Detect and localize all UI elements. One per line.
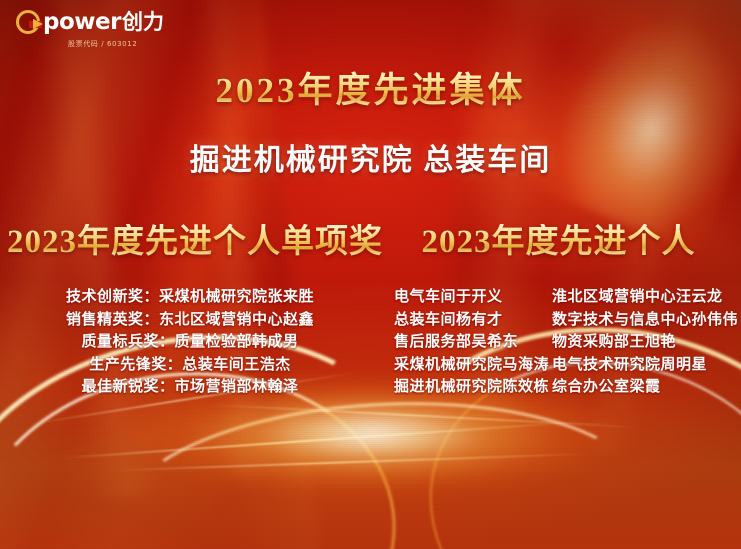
poster-main-title-text: 2023年度先进集体 (215, 71, 525, 110)
list-item: 质量标兵奖：质量检验部韩成男 (81, 331, 298, 354)
section-heading-individual-text: 2023年度先进个人 (422, 224, 696, 260)
award-lists: 技术创新奖：采煤机械研究院张来胜 销售精英奖：东北区域营销中心赵鑫 质量标兵奖：… (0, 286, 741, 399)
list-item: 掘进机械研究院陈效栋 综合办公室梁霞 (394, 376, 727, 399)
c-power-circle-arrow-icon (16, 10, 40, 34)
individual-award-list: 电气车间于开义 淮北区域营销中心汪云龙 总装车间杨有才 数字技术与信息中心孙伟伟… (380, 286, 741, 399)
person-name: 数字技术与信息中心孙伟伟 (552, 309, 727, 332)
company-logo: power 创力 股票代码 / 603012 (16, 10, 164, 49)
poster-subtitle: 掘进机械研究院 总装车间 (0, 135, 741, 179)
person-name: 售后服务部吴希东 (394, 331, 552, 354)
list-item: 电气车间于开义 淮北区域营销中心汪云龙 (394, 286, 727, 309)
person-name: 总装车间杨有才 (394, 309, 552, 332)
section-heading-individual: 2023年度先进个人 (390, 214, 741, 262)
logo-wordmark-cn: 创力 (122, 12, 164, 33)
person-name: 综合办公室梁霞 (552, 376, 727, 399)
section-heading-individual-special: 2023年度先进个人单项奖 (0, 214, 390, 262)
logo-wordmark: power (43, 11, 121, 34)
logo-row: power 创力 (16, 10, 164, 34)
stock-code-label: 股票代码 / 603012 (68, 39, 137, 49)
person-name: 电气技术研究院周明星 (552, 354, 727, 377)
section-heading-individual-special-text: 2023年度先进个人单项奖 (7, 224, 383, 260)
list-item: 生产先锋奖：总装车间王浩杰 (89, 354, 291, 377)
poster-main-title: 2023年度先进集体 (0, 62, 741, 113)
list-item: 售后服务部吴希东 物资采购部王旭艳 (394, 331, 727, 354)
section-headings: 2023年度先进个人单项奖 2023年度先进个人 (0, 214, 741, 262)
person-name: 电气车间于开义 (394, 286, 552, 309)
person-name: 淮北区域营销中心汪云龙 (552, 286, 727, 309)
person-name: 掘进机械研究院陈效栋 (394, 376, 552, 399)
list-item: 总装车间杨有才 数字技术与信息中心孙伟伟 (394, 309, 727, 332)
individual-special-award-list: 技术创新奖：采煤机械研究院张来胜 销售精英奖：东北区域营销中心赵鑫 质量标兵奖：… (0, 286, 380, 399)
list-item: 最佳新锐奖：市场营销部林翰泽 (81, 376, 298, 399)
person-name: 物资采购部王旭艳 (552, 331, 727, 354)
list-item: 采煤机械研究院马海涛 电气技术研究院周明星 (394, 354, 727, 377)
person-name: 采煤机械研究院马海涛 (394, 354, 552, 377)
list-item: 技术创新奖：采煤机械研究院张来胜 (66, 286, 314, 309)
award-poster: power 创力 股票代码 / 603012 2023年度先进集体 掘进机械研究… (0, 0, 741, 549)
list-item: 销售精英奖：东北区域营销中心赵鑫 (66, 309, 314, 332)
